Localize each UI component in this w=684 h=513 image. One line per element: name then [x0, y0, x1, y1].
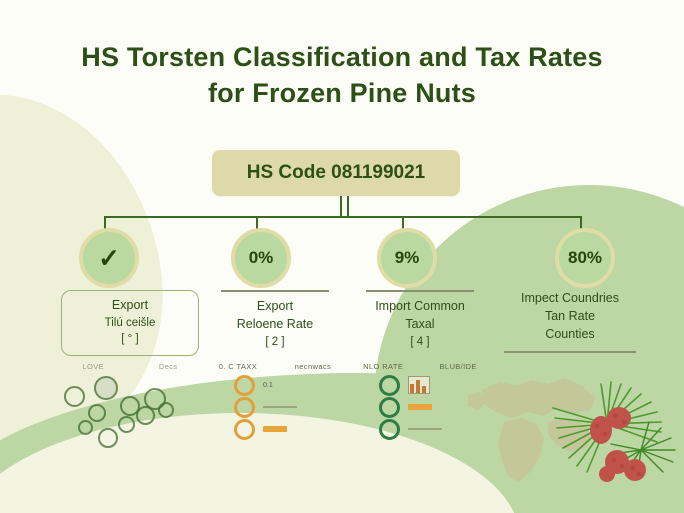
pine-branch-with-cones-icon: [545, 378, 680, 498]
column-3-line-3: [ 4 ]: [345, 334, 495, 350]
scatter-circle: [158, 402, 174, 418]
column-1-line-1: Export: [66, 297, 194, 315]
column-3-rule: [366, 290, 474, 292]
list-item: [202, 396, 352, 418]
scatter-circle: [88, 404, 106, 422]
column-2-rule: [221, 290, 329, 292]
ring-icon: [234, 397, 255, 418]
column-1-sub-right: Decs: [159, 362, 178, 371]
node-export-rebate-percent[interactable]: 0%: [231, 228, 291, 288]
column-3-label: Import Common Taxal [ 4 ]: [345, 298, 495, 350]
hs-code-label: HS Code 081199021: [247, 162, 426, 184]
column-2-sub-left: 0. C TAXX: [219, 362, 257, 371]
ring-icon: [234, 419, 255, 440]
column-impact-countries: Impect Coundries Tan Rate Counties: [495, 290, 645, 359]
scatter-circle: [64, 386, 85, 407]
column-2-detail-list: 0.1: [202, 374, 352, 440]
node-import-percent[interactable]: 9%: [377, 228, 437, 288]
node-check-icon[interactable]: ✓: [79, 228, 139, 288]
scatter-circle: [78, 420, 93, 435]
node-impact-percent[interactable]: 80%: [555, 228, 615, 288]
chart-icon: [408, 376, 430, 394]
placeholder-bar: [408, 428, 442, 430]
infographic-canvas: HS Torsten Classification and Tax Rates …: [0, 0, 684, 513]
node-3-value: 9%: [395, 248, 420, 268]
column-1-line-3: [ ° ]: [66, 331, 194, 347]
page-title-line-1: HS Torsten Classification and Tax Rates: [81, 42, 602, 72]
node-2-value: 0%: [249, 248, 274, 268]
column-2-line-3: [ 2 ]: [200, 334, 350, 350]
page-title-line-2: for Frozen Pine Nuts: [0, 76, 684, 112]
column-export-tariff: Export Tilú ceišle [ ° ]: [55, 290, 205, 356]
page-title: HS Torsten Classification and Tax Rates …: [0, 40, 684, 111]
node-4-value: 80%: [568, 248, 602, 268]
connector-stem-right: [347, 196, 349, 218]
column-2-line-1: Export: [200, 298, 350, 316]
scatter-circle: [94, 376, 118, 400]
orange-swatch-icon: [408, 404, 432, 410]
orange-swatch-icon: [263, 426, 287, 432]
scatter-circle: [118, 416, 135, 433]
column-2-label: Export Reloene Rate [ 2 ]: [200, 298, 350, 350]
column-4-label: Impect Coundries Tan Rate Counties: [495, 290, 645, 343]
column-4-line-3: Counties: [495, 326, 645, 344]
column-1-sublabels: LOVE Decs: [55, 362, 205, 371]
node-1-value: ✓: [98, 245, 120, 271]
column-2-sub-right: necnwacs: [295, 362, 332, 371]
column-1-sub-left: LOVE: [82, 362, 104, 371]
ring-icon: [234, 375, 255, 396]
column-3-line-1: Import Common: [345, 298, 495, 316]
column-4-line-2: Tan Rate: [495, 308, 645, 326]
column-1-line-2: Tilú ceišle: [66, 315, 194, 331]
connector-horizontal-bar: [104, 216, 582, 218]
column-1-card: Export Tilú ceišle [ ° ]: [61, 290, 199, 356]
column-4-rule: [504, 351, 636, 353]
column-4-line-1: Impect Coundries: [495, 290, 645, 308]
list-item: [202, 418, 352, 440]
placeholder-bar: [263, 406, 297, 408]
column-import-common-tax: Import Common Taxal [ 4 ]: [345, 290, 495, 350]
ring-icon: [379, 419, 400, 440]
column-3-line-2: Taxal: [345, 316, 495, 334]
column-2-line-2: Reloene Rate: [200, 316, 350, 334]
column-3-sub-left: NLO RATE: [363, 362, 403, 371]
scatter-circle: [98, 428, 118, 448]
column-export-rebate-rate: Export Reloene Rate [ 2 ]: [200, 290, 350, 350]
list-item: 0.1: [202, 374, 352, 396]
column-2-sublabels: 0. C TAXX necnwacs: [200, 362, 350, 371]
hs-code-box[interactable]: HS Code 081199021: [212, 150, 460, 196]
column-1-scatter-cluster: [58, 372, 208, 447]
column-2-item-value: 0.1: [263, 382, 273, 389]
connector-stem-left: [340, 196, 342, 218]
ring-icon: [379, 397, 400, 418]
ring-icon: [379, 375, 400, 396]
column-1-label: Export Tilú ceišle [ ° ]: [66, 297, 194, 347]
